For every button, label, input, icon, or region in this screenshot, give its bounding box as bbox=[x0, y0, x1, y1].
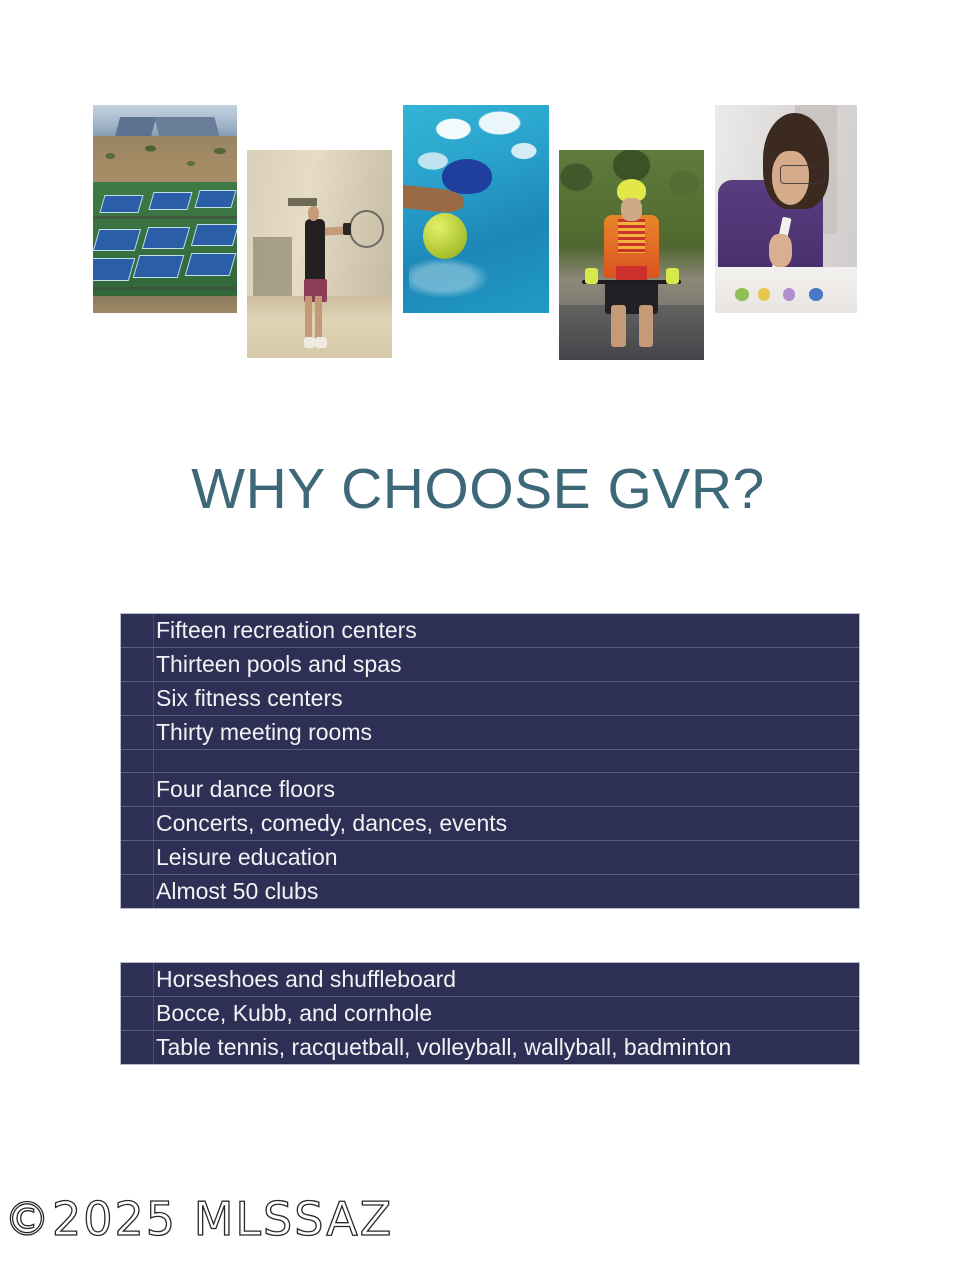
table-cell: Six fitness centers bbox=[154, 682, 859, 715]
table-cell: Almost 50 clubs bbox=[154, 875, 859, 908]
table-cell: Concerts, comedy, dances, events bbox=[154, 807, 859, 840]
table-row: Thirty meeting rooms bbox=[121, 715, 859, 749]
racquetball-player-photo bbox=[247, 150, 392, 358]
table-cell: Table tennis, racquetball, volleyball, w… bbox=[154, 1031, 859, 1064]
photo-strip bbox=[0, 0, 956, 380]
row-gutter bbox=[121, 1031, 154, 1064]
table-row: Table tennis, racquetball, volleyball, w… bbox=[121, 1030, 859, 1064]
row-gutter bbox=[121, 614, 154, 647]
swimmer-photo bbox=[403, 105, 549, 313]
pickleball-courts-photo bbox=[93, 105, 237, 313]
row-gutter bbox=[121, 997, 154, 1030]
cyclist-photo bbox=[559, 150, 704, 360]
row-gutter bbox=[121, 716, 154, 749]
table-row: Concerts, comedy, dances, events bbox=[121, 806, 859, 840]
table-row: Almost 50 clubs bbox=[121, 874, 859, 908]
painting-artist-photo bbox=[715, 105, 857, 313]
table-cell: Four dance floors bbox=[154, 773, 859, 806]
table-row: Thirteen pools and spas bbox=[121, 647, 859, 681]
table-cell: Horseshoes and shuffleboard bbox=[154, 963, 859, 996]
table-cell: Leisure education bbox=[154, 841, 859, 874]
row-gutter bbox=[121, 875, 154, 908]
amenities-table: Fifteen recreation centers Thirteen pool… bbox=[120, 613, 860, 909]
table-cell: Fifteen recreation centers bbox=[154, 614, 859, 647]
table-row: Bocce, Kubb, and cornhole bbox=[121, 996, 859, 1030]
table-row: Fifteen recreation centers bbox=[121, 614, 859, 647]
row-gutter bbox=[121, 750, 154, 772]
sports-table: Horseshoes and shuffleboard Bocce, Kubb,… bbox=[120, 962, 860, 1065]
table-row: Four dance floors bbox=[121, 772, 859, 806]
row-gutter bbox=[121, 807, 154, 840]
table-row: Six fitness centers bbox=[121, 681, 859, 715]
row-gutter bbox=[121, 648, 154, 681]
table-cell: Thirteen pools and spas bbox=[154, 648, 859, 681]
table-row: Leisure education bbox=[121, 840, 859, 874]
table-row-spacer bbox=[121, 749, 859, 772]
slide-canvas: WHY CHOOSE GVR? Fifteen recreation cente… bbox=[0, 0, 956, 1273]
page-title: WHY CHOOSE GVR? bbox=[0, 461, 956, 518]
row-gutter bbox=[121, 963, 154, 996]
row-gutter bbox=[121, 682, 154, 715]
row-gutter bbox=[121, 773, 154, 806]
table-cell: Thirty meeting rooms bbox=[154, 716, 859, 749]
row-gutter bbox=[121, 841, 154, 874]
table-cell bbox=[154, 750, 859, 772]
table-row: Horseshoes and shuffleboard bbox=[121, 963, 859, 996]
copyright-watermark: ©2025 MLSSAZ bbox=[4, 1196, 393, 1242]
table-cell: Bocce, Kubb, and cornhole bbox=[154, 997, 859, 1030]
